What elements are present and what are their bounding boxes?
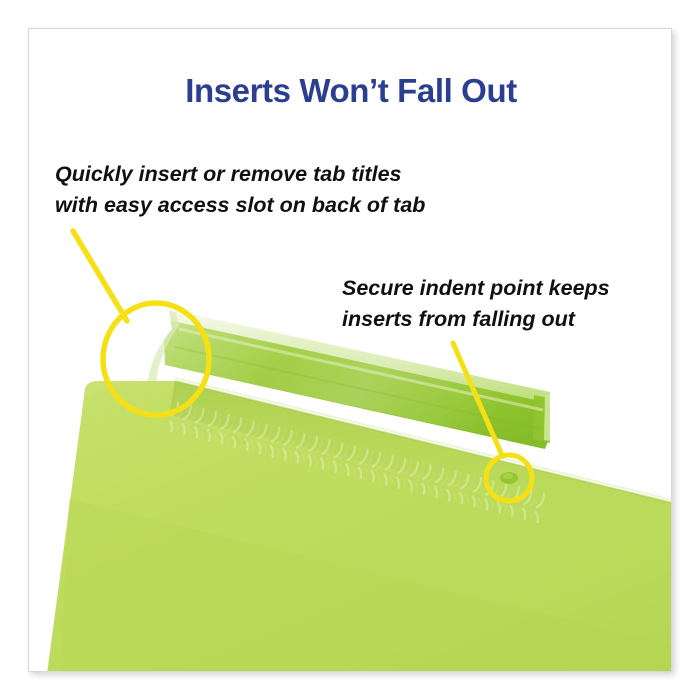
callout-caption-left: Quickly insert or remove tab titles with… (55, 159, 425, 220)
callout-caption-right-line2: inserts from falling out (342, 304, 610, 335)
screenshot-canvas: Inserts Won’t Fall Out Quickly insert or… (0, 0, 700, 700)
callout-caption-left-line2: with easy access slot on back of tab (55, 190, 425, 221)
photo-frame: Inserts Won’t Fall Out Quickly insert or… (28, 28, 672, 672)
callout-caption-right-line1: Secure indent point keeps (342, 273, 610, 304)
callout-caption-left-line1: Quickly insert or remove tab titles (55, 159, 425, 190)
callout-caption-right: Secure indent point keeps inserts from f… (342, 273, 610, 334)
product-photo (29, 29, 672, 672)
page-title: Inserts Won’t Fall Out (29, 73, 672, 109)
